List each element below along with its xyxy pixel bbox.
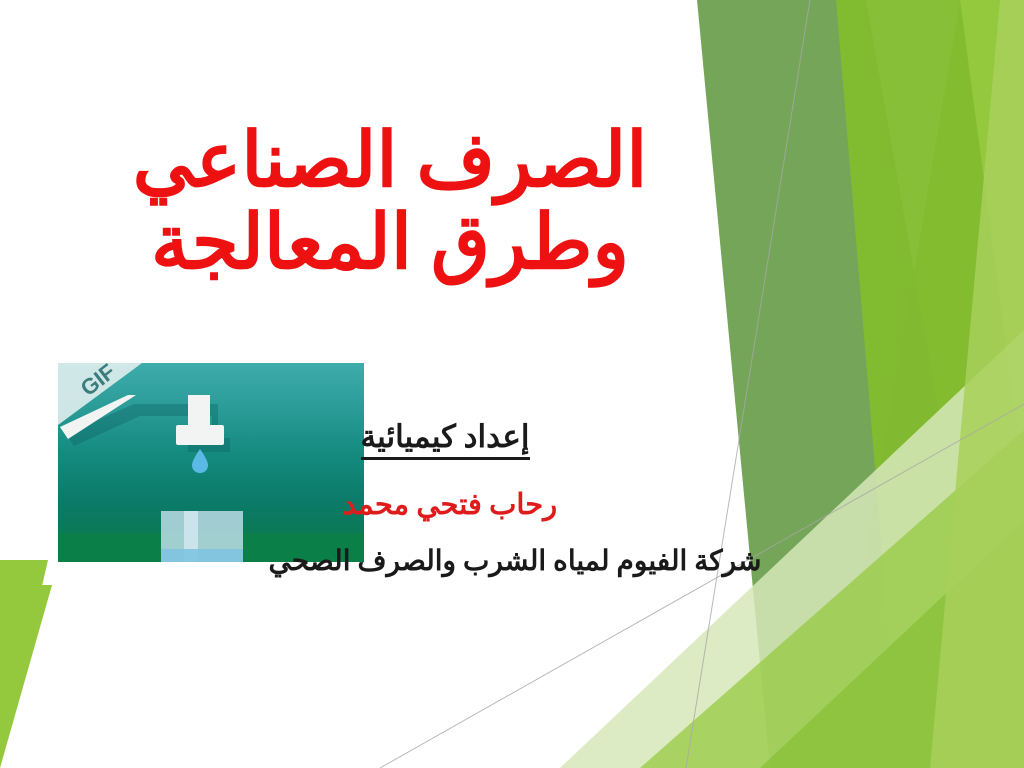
green-band-dark	[697, 0, 1002, 768]
slide-title: الصرف الصناعي وطرق المعالجة	[60, 120, 720, 284]
green-wedge-bottom-left-2	[0, 585, 52, 768]
title-line-2: وطرق المعالجة	[60, 202, 720, 284]
title-slide: الصرف الصناعي وطرق المعالجة	[0, 0, 1024, 768]
credits-block: إعداد كيميائية رحاب فتحي محمد شركة الفيو…	[230, 418, 800, 579]
green-column-right	[830, 0, 1024, 768]
author-name: رحاب فتحي محمد	[230, 488, 670, 523]
organization-name: شركة الفيوم لمياه الشرب والصرف الصحي	[230, 545, 800, 579]
green-band-mid	[836, 0, 1024, 768]
hairline-diagonal-upper	[686, 0, 810, 768]
prepared-by-label: إعداد كيميائية	[361, 418, 530, 460]
prepared-by-row: إعداد كيميائية	[230, 418, 800, 460]
title-line-1: الصرف الصناعي	[60, 120, 720, 202]
faucet-spout	[176, 425, 224, 445]
green-sliver-right	[930, 0, 1024, 768]
green-wedge-bottom-left	[0, 560, 48, 768]
